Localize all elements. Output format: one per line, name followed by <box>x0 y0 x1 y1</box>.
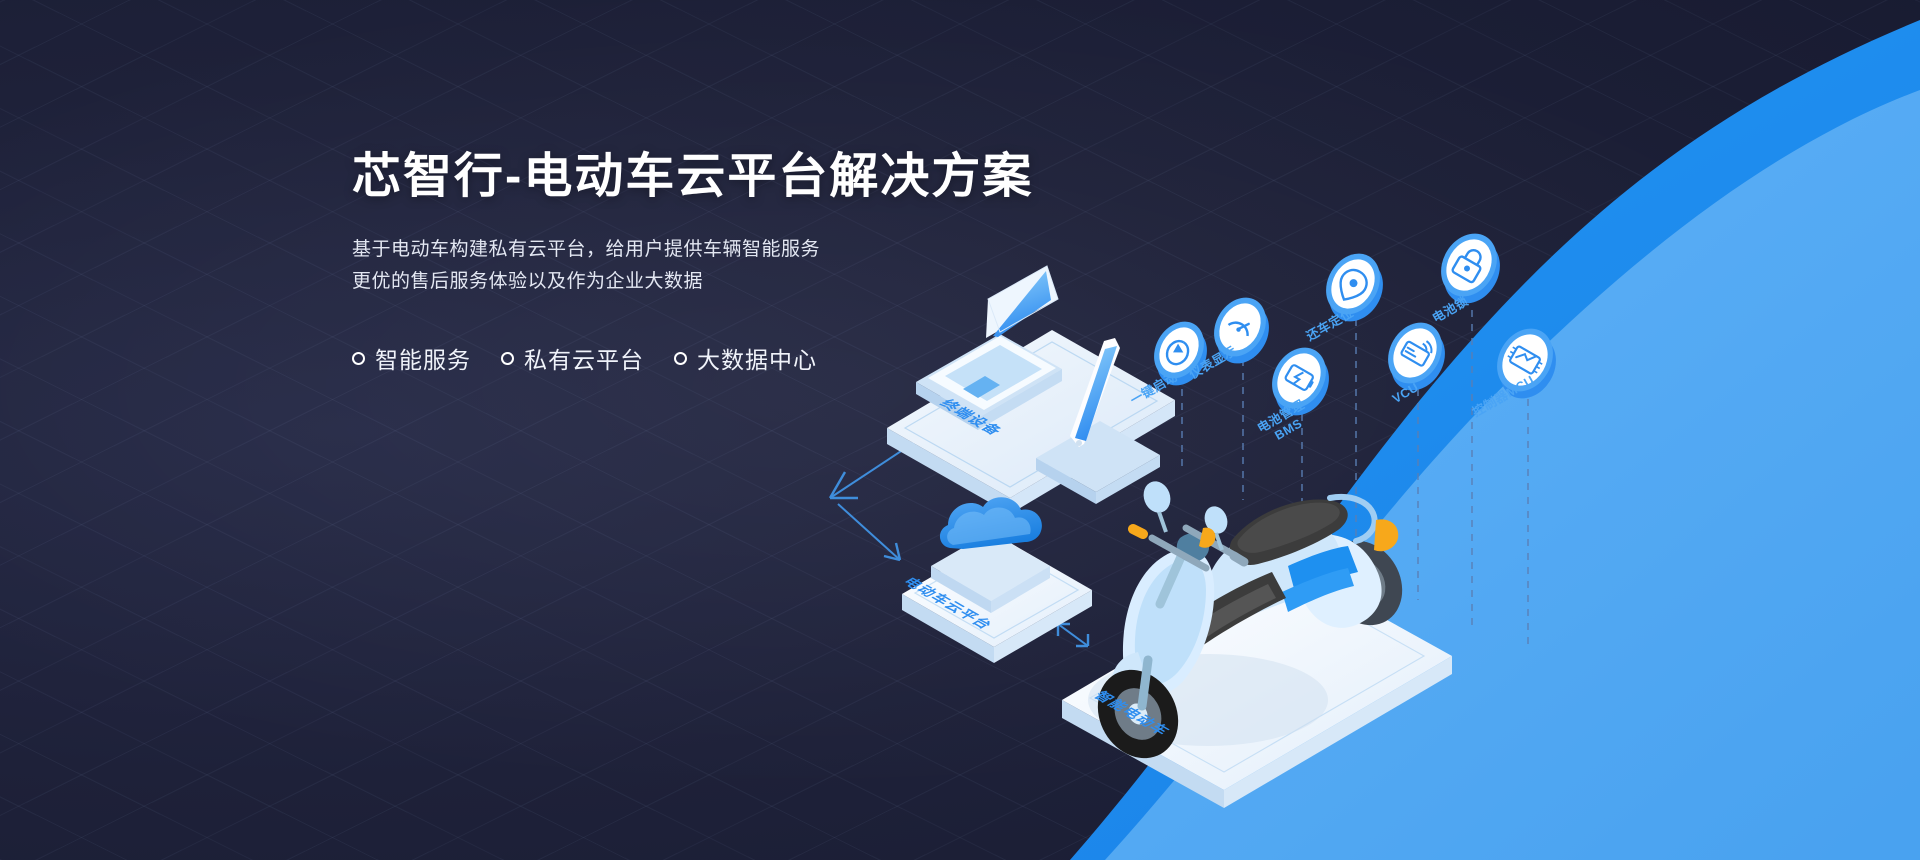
circle-bullet-icon <box>501 352 514 365</box>
circle-bullet-icon <box>674 352 687 365</box>
feature-label: 私有云平台 <box>524 341 644 375</box>
subtitle-line-2: 更优的售后服务体验以及作为企业大数据 <box>352 266 1112 299</box>
feature-label: 智能服务 <box>375 341 471 375</box>
subtitle-line-1: 基于电动车构建私有云平台，给用户提供车辆智能服务 <box>352 234 1112 267</box>
banner-stage: 芯智行-电动车云平台解决方案 基于电动车构建私有云平台，给用户提供车辆智能服务 … <box>0 0 1920 860</box>
circle-bullet-icon <box>352 352 365 365</box>
feature-item-private-cloud[interactable]: 私有云平台 <box>501 341 644 375</box>
copy-block: 芯智行-电动车云平台解决方案 基于电动车构建私有云平台，给用户提供车辆智能服务 … <box>352 150 1112 375</box>
feature-list: 智能服务 私有云平台 大数据中心 <box>352 341 1112 375</box>
background-wave <box>0 0 1920 860</box>
feature-item-intelligent-service[interactable]: 智能服务 <box>352 341 471 375</box>
page-title: 芯智行-电动车云平台解决方案 <box>352 150 1127 204</box>
feature-label: 大数据中心 <box>697 341 817 375</box>
feature-item-big-data-center[interactable]: 大数据中心 <box>674 341 817 375</box>
